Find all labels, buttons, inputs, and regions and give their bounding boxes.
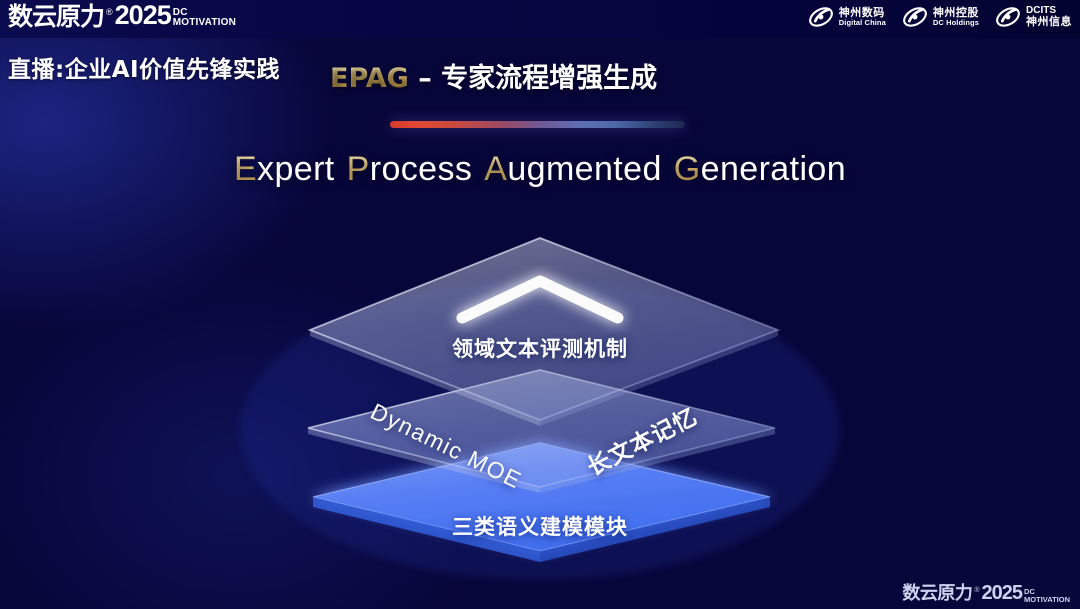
- expansion-cap-0: E: [234, 150, 257, 188]
- partner-logo-group: 神州数码 Digital China 神州控股 DC Holdings: [808, 4, 1072, 30]
- layer-top-label: 领域文本评测机制: [0, 333, 1080, 363]
- layer-middle-label-right: 长文本记忆: [580, 398, 702, 483]
- brand-name-cn: 数云原力: [8, 4, 104, 29]
- brand-year: 2025: [115, 2, 171, 29]
- slide-headline: EPAG – 专家流程增强生成: [330, 56, 657, 95]
- logo-digital-china: 神州数码 Digital China: [808, 4, 886, 30]
- logo-dcits: DCITS 神州信息: [995, 4, 1072, 30]
- watermark-name-cn: 数云原力: [902, 585, 972, 603]
- brand-logo-header: 数云原力 ® 2025 DC MOTIVATION: [8, 2, 236, 29]
- logo-en-1: DC Holdings: [933, 19, 979, 27]
- epag-expansion-line: ExpertProcessAugmentedGeneration: [0, 150, 1080, 189]
- watermark-year: 2025: [982, 583, 1023, 603]
- logo-text-dcits: DCITS 神州信息: [1026, 6, 1072, 28]
- expansion-word-0: Expert: [234, 150, 335, 188]
- brand-dc-line2: MOTIVATION: [173, 18, 236, 28]
- headline-chinese: 专家流程增强生成: [441, 63, 657, 94]
- layer-top-plate: [310, 238, 778, 420]
- expansion-word-1: Process: [347, 150, 473, 188]
- headline-acronym: EPAG: [330, 63, 409, 94]
- layer-top: [310, 238, 778, 426]
- expansion-rest-2: ugmented: [507, 150, 661, 188]
- expansion-rest-3: eneration: [701, 150, 846, 188]
- corner-watermark: 数云原力 ® 2025 DC MOTIVATION: [902, 583, 1070, 603]
- watermark-registered-mark: ®: [974, 587, 979, 603]
- gradient-divider-bar: [390, 121, 685, 128]
- logo-cn-2: 神州信息: [1026, 16, 1072, 28]
- expansion-cap-3: G: [674, 150, 701, 188]
- swirl-logo-icon: [995, 4, 1021, 30]
- watermark-dc-line2: MOTIVATION: [1024, 596, 1070, 604]
- logo-dc-holdings: 神州控股 DC Holdings: [902, 4, 979, 30]
- layer-bottom: [313, 443, 770, 562]
- logo-en-0: Digital China: [839, 19, 886, 27]
- expansion-word-2: Augmented: [484, 150, 662, 188]
- headline-separator: –: [409, 63, 441, 94]
- layer-middle-label-left: Dynamic MOE: [366, 398, 526, 494]
- logo-text-dc-holdings: 神州控股 DC Holdings: [933, 7, 979, 26]
- logo-text-digital-china: 神州数码 Digital China: [839, 7, 886, 26]
- expansion-word-3: Generation: [674, 150, 846, 188]
- brand-dc-motivation: DC MOTIVATION: [173, 8, 236, 29]
- swirl-logo-icon: [808, 4, 834, 30]
- expansion-rest-0: xpert: [257, 150, 335, 188]
- chevron-up-icon: [462, 281, 618, 318]
- broadcast-subtitle: 直播:企业AI价值先锋实践: [8, 50, 280, 84]
- layer-bottom-label: 三类语义建模模块: [0, 511, 1080, 541]
- expansion-cap-1: P: [347, 150, 370, 188]
- slide-canvas: 数云原力 ® 2025 DC MOTIVATION 直播:企业AI价值先锋实践 …: [0, 0, 1080, 609]
- layer-middle: [308, 370, 775, 493]
- expansion-rest-1: rocess: [370, 150, 473, 188]
- expansion-cap-2: A: [484, 150, 507, 188]
- brand-registered-mark: ®: [106, 8, 113, 29]
- swirl-logo-icon: [902, 4, 928, 30]
- watermark-dc-motivation: DC MOTIVATION: [1024, 588, 1070, 603]
